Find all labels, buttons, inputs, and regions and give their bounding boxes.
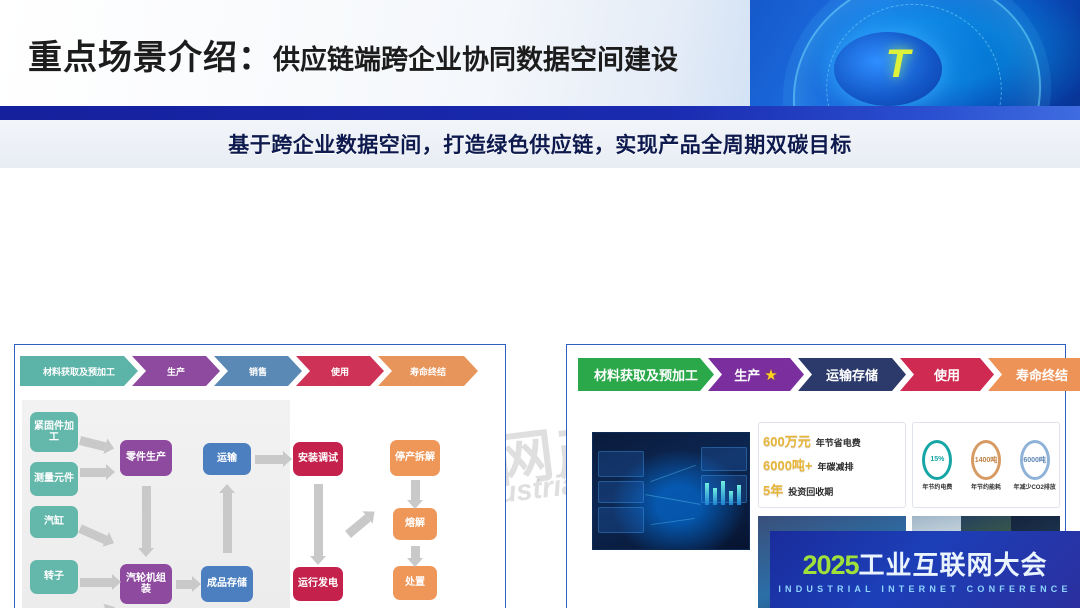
- left-lifecycle-label-0: 材料获取及预加工: [43, 365, 115, 378]
- conference-logo-main: 2025 工业互联网大会: [802, 545, 1047, 582]
- gauge-0: 15% 年节约电费: [915, 440, 959, 491]
- right-lifecycle-step-2[interactable]: 运输存储: [798, 358, 906, 391]
- kpi-gauges-box: 15% 年节约电费 1400吨 年节约能耗 6000吨 年减少CO2排放: [912, 422, 1060, 508]
- flow-node-production-label-1: 汽轮机组装: [122, 573, 170, 596]
- gauge-value-2: 6000吨: [1023, 455, 1046, 465]
- energy-dashboard-screenshot[interactable]: [592, 432, 750, 550]
- conference-year: 2025: [802, 550, 858, 581]
- flow-arrow-m3-p1: [80, 578, 112, 587]
- slide-header: T 重点场景介绍： 供应链端跨企业协同数据空间建设: [0, 0, 1080, 106]
- kpi-row-0: 600万元 年节省电费: [763, 431, 901, 450]
- kpi-value-1: 6000吨+: [763, 455, 813, 474]
- gauge-label-0: 年节约电费: [915, 482, 959, 491]
- subtitle-banner: 基于跨企业数据空间，打造绿色供应链，实现产品全周期双碳目标: [0, 120, 1080, 168]
- left-lifecycle-label-1: 生产: [167, 365, 185, 378]
- flow-arrow-u0-u1: [314, 484, 323, 556]
- left-lifecycle-step-4[interactable]: 寿命终结: [378, 356, 478, 386]
- kpi-label-1: 年碳减排: [818, 460, 854, 473]
- conference-name-en: INDUSTRIAL INTERNET CONFERENCE: [778, 584, 1071, 594]
- conference-logo: 2025 工业互联网大会 INDUSTRIAL INTERNET CONFERE…: [770, 531, 1080, 608]
- flow-node-material-label-0: 紧固件加工: [32, 421, 76, 444]
- subtitle-text: 基于跨企业数据空间，打造绿色供应链，实现产品全周期双碳目标: [228, 129, 852, 159]
- header-accent-bar: [0, 106, 1080, 120]
- flow-node-eol-label-0: 停产拆解: [395, 452, 435, 464]
- flow-node-eol-0[interactable]: 停产拆解: [390, 440, 440, 476]
- flow-node-eol-label-1: 熔解: [405, 518, 425, 530]
- right-lifecycle-step-4[interactable]: 寿命终结: [988, 358, 1080, 391]
- flow-node-logistics-label-0: 运输: [217, 453, 237, 465]
- highlight-star-icon: ★: [764, 366, 777, 384]
- flow-node-production-label-0: 零件生产: [126, 452, 166, 464]
- flow-node-material-label-2: 汽缸: [44, 516, 64, 528]
- flow-arrow-l1-l0: [223, 493, 232, 553]
- gauge-ring-icon-1: 1400吨: [971, 440, 1001, 480]
- right-lifecycle-step-3[interactable]: 使用: [900, 358, 994, 391]
- page-title: 重点场景介绍： 供应链端跨企业协同数据空间建设: [28, 30, 678, 79]
- flow-node-material-2[interactable]: 汽缸: [30, 506, 78, 538]
- flow-node-logistics-0[interactable]: 运输: [203, 443, 251, 475]
- flow-arrow-e0-e1: [411, 480, 420, 500]
- page-title-main: 重点场景介绍：: [28, 30, 273, 79]
- gauge-1: 1400吨 年节约能耗: [964, 440, 1008, 491]
- gauge-value-0: 15%: [930, 456, 944, 463]
- gauge-value-1: 1400吨: [975, 455, 998, 465]
- flow-node-material-3[interactable]: 转子: [30, 560, 78, 594]
- gauge-label-1: 年节约能耗: [964, 482, 1008, 491]
- right-lifecycle-step-1[interactable]: 生产 ★: [708, 358, 804, 391]
- kpi-stats-box: 600万元 年节省电费 6000吨+ 年碳减排 5年 投资回收期: [758, 422, 906, 508]
- gauge-2: 6000吨 年减少CO2排放: [1013, 440, 1057, 491]
- flow-node-production-0[interactable]: 零件生产: [120, 440, 172, 476]
- right-lifecycle-label-4: 寿命终结: [1016, 365, 1068, 384]
- flow-node-usage-label-0: 安装调试: [298, 453, 338, 465]
- kpi-value-2: 5年: [763, 480, 783, 499]
- conference-name-cn: 工业互联网大会: [859, 545, 1048, 582]
- brand-t-logo-icon: T: [886, 42, 908, 87]
- flow-node-material-0[interactable]: 紧固件加工: [30, 412, 78, 452]
- gauge-ring-icon-0: 15%: [922, 440, 952, 480]
- right-lifecycle-step-0[interactable]: 材料获取及预加工: [578, 358, 714, 391]
- flow-node-material-label-1: 测量元件: [34, 473, 74, 485]
- flow-node-usage-label-1: 运行发电: [298, 578, 338, 590]
- flow-arrow-m1-p0: [80, 468, 106, 477]
- page-title-sub: 供应链端跨企业协同数据空间建设: [273, 38, 678, 77]
- flow-node-logistics-1[interactable]: 成品存储: [201, 566, 253, 602]
- left-lifecycle-flow: 材料获取及预加工 生产 销售 使用 寿命终结: [20, 356, 472, 386]
- gauge-label-2: 年减少CO2排放: [1013, 482, 1057, 491]
- flow-node-eol-label-2: 处置: [405, 577, 425, 589]
- right-lifecycle-label-0: 材料获取及预加工: [594, 365, 698, 384]
- left-lifecycle-step-2[interactable]: 销售: [214, 356, 302, 386]
- flow-node-logistics-label-1: 成品存储: [207, 578, 247, 590]
- right-lifecycle-label-2: 运输存储: [826, 365, 878, 384]
- left-lifecycle-step-0[interactable]: 材料获取及预加工: [20, 356, 138, 386]
- kpi-label-2: 投资回收期: [788, 485, 833, 498]
- flow-node-eol-1[interactable]: 熔解: [393, 508, 437, 540]
- header-tech-graphic: T: [750, 0, 1080, 106]
- kpi-row-2: 5年 投资回收期: [763, 480, 901, 499]
- left-lifecycle-label-2: 销售: [249, 365, 267, 378]
- kpi-row-1: 6000吨+ 年碳减排: [763, 455, 901, 474]
- flow-node-material-1[interactable]: 测量元件: [30, 462, 78, 496]
- slide-root: T 重点场景介绍： 供应链端跨企业协同数据空间建设 基于跨企业数据空间，打造绿色…: [0, 0, 1080, 608]
- flow-node-usage-0[interactable]: 安装调试: [293, 442, 343, 476]
- flow-arrow-e1-e2: [411, 546, 420, 558]
- flow-node-production-1[interactable]: 汽轮机组装: [120, 564, 172, 604]
- left-lifecycle-label-3: 使用: [331, 365, 349, 378]
- flow-arrow-p1-l1: [176, 580, 192, 589]
- right-lifecycle-label-3: 使用: [934, 365, 960, 384]
- right-lifecycle-flow: 材料获取及预加工 生产 ★ 运输存储 使用 寿命终结: [578, 358, 1080, 391]
- kpi-value-0: 600万元: [763, 431, 811, 450]
- left-lifecycle-step-3[interactable]: 使用: [296, 356, 384, 386]
- gauge-ring-icon-2: 6000吨: [1020, 440, 1050, 480]
- flow-node-eol-2[interactable]: 处置: [393, 566, 437, 600]
- left-lifecycle-step-1[interactable]: 生产: [132, 356, 220, 386]
- flow-node-usage-1[interactable]: 运行发电: [293, 567, 343, 601]
- flow-arrow-p0-p1: [142, 486, 151, 548]
- right-lifecycle-label-1: 生产: [734, 365, 760, 384]
- flow-node-material-label-3: 转子: [44, 571, 64, 583]
- left-lifecycle-label-4: 寿命终结: [410, 365, 446, 378]
- flow-arrow-l0-u0: [255, 455, 283, 464]
- kpi-label-0: 年节省电费: [816, 436, 861, 449]
